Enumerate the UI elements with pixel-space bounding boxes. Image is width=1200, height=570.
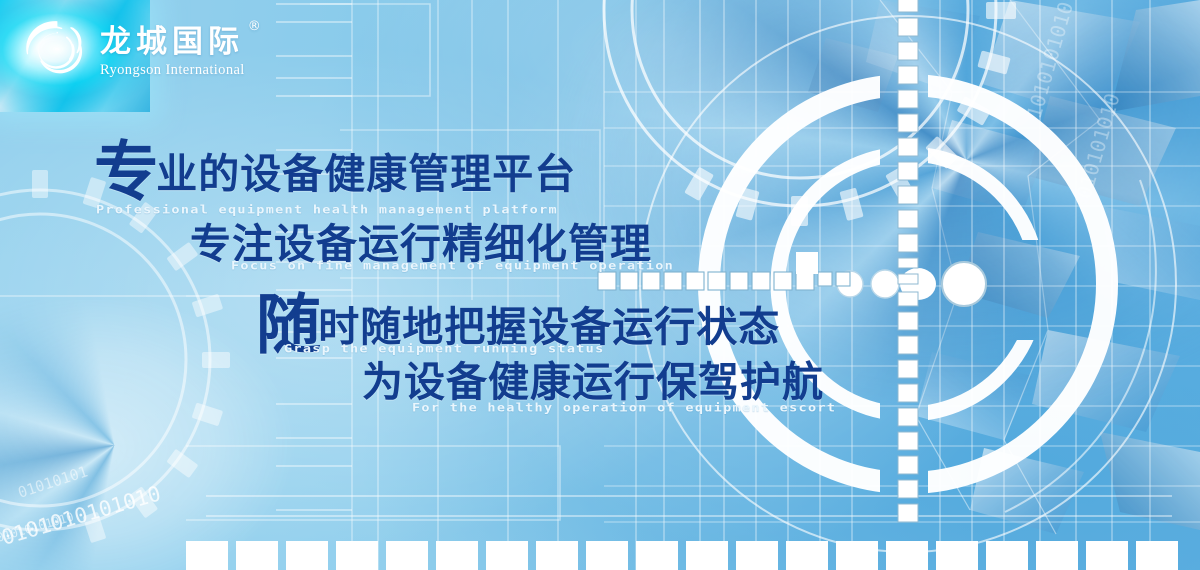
brand-logo[interactable]: 龙城国际 ® Ryongson International (24, 16, 294, 86)
brand-name-cn: 龙城国际 ® (100, 27, 245, 58)
svg-text:1010101010: 1010101010 (1022, 0, 1078, 121)
headline-4-cn-text: 为设备健康运行保驾护航 (362, 358, 824, 406)
brand-name-cn-text: 龙城国际 (100, 24, 244, 60)
headline-1-lead-char: 专 (94, 135, 159, 210)
brand-name-en: Ryongson International (100, 63, 245, 78)
headline-1-rest: 业的设备健康管理平台 (156, 150, 576, 198)
swirl-spiral-logo-mark-icon (24, 19, 88, 83)
svg-text:01010101010: 01010101010 (0, 510, 75, 545)
headline-1-cn: 专业的设备健康管理平台 (94, 150, 576, 197)
headline-1-en: Professional equipment health management… (96, 203, 558, 216)
headline-block: 专业的设备健康管理平台 Professional equipment healt… (0, 140, 860, 440)
headline-4-en: For the healthy operation of equipment e… (412, 401, 836, 414)
headline-3-en: Grasp the equipment running status (284, 342, 605, 355)
svg-text:0101010101010: 0101010101010 (0, 481, 163, 549)
svg-text:01010101: 01010101 (16, 462, 90, 501)
headline-1-cn-text: 专业的设备健康管理平台 (94, 150, 576, 198)
headline-4-cn: 为设备健康运行保驾护航 (362, 362, 824, 403)
registered-mark: ® (248, 20, 261, 33)
headline-2-en: Focus on fine management of equipment op… (231, 259, 674, 272)
svg-text:010101010: 010101010 (1072, 91, 1125, 202)
promo-banner: 01010101001 1001010110 01010101010 01010… (0, 0, 1200, 570)
brand-text: 龙城国际 ® Ryongson International (100, 25, 245, 78)
